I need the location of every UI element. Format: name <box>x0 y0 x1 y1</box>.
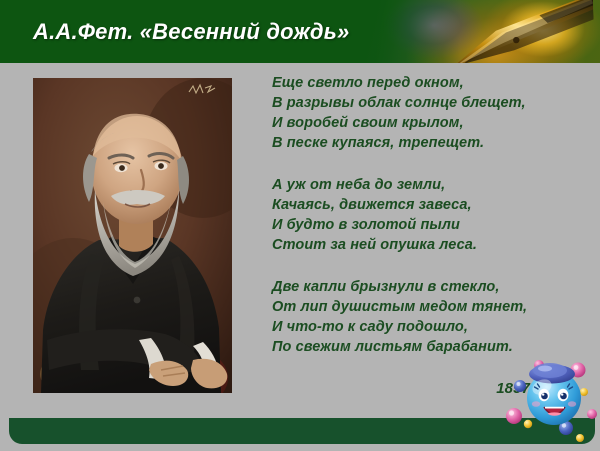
title-banner: А.А.Фет. «Весенний дождь» <box>0 0 600 63</box>
mascot <box>492 354 600 444</box>
poem-line: Стоит за ней опушка леса. <box>272 235 582 255</box>
poem-line: Еще светло перед окном, <box>272 73 582 93</box>
poem-line: В разрывы облак солнце блещет, <box>272 93 582 113</box>
poem-line: От лип душистым медом тянет, <box>272 297 582 317</box>
slide: А.А.Фет. «Весенний дождь» <box>0 0 600 451</box>
blue-smiley-ball-mascot-icon <box>492 354 600 444</box>
poem-line: И будто в золотой пыли <box>272 215 582 235</box>
poem-line: А уж от неба до земли, <box>272 175 582 195</box>
poem-stanza-1: Еще светло перед окном, В разрывы облак … <box>272 73 582 153</box>
portrait-image <box>33 78 232 393</box>
fountain-pen-nib-icon <box>443 0 595 63</box>
poem-stanza-2: А уж от неба до земли, Качаясь, движется… <box>272 175 582 255</box>
poem-text: Еще светло перед окном, В разрывы облак … <box>272 73 582 399</box>
poem-line: И что-то к саду подошло, <box>272 317 582 337</box>
poem-line: Две капли брызнули в стекло, <box>272 277 582 297</box>
poem-line: В песке купаяся, трепещет. <box>272 133 582 153</box>
portrait-painting-icon <box>33 78 232 393</box>
poem-line: И воробей своим крылом, <box>272 113 582 133</box>
poem-stanza-3: Две капли брызнули в стекло, От лип души… <box>272 277 582 357</box>
banner-gradient-fade <box>330 0 460 63</box>
page-title: А.А.Фет. «Весенний дождь» <box>33 19 349 45</box>
poem-line: Качаясь, движется завеса, <box>272 195 582 215</box>
